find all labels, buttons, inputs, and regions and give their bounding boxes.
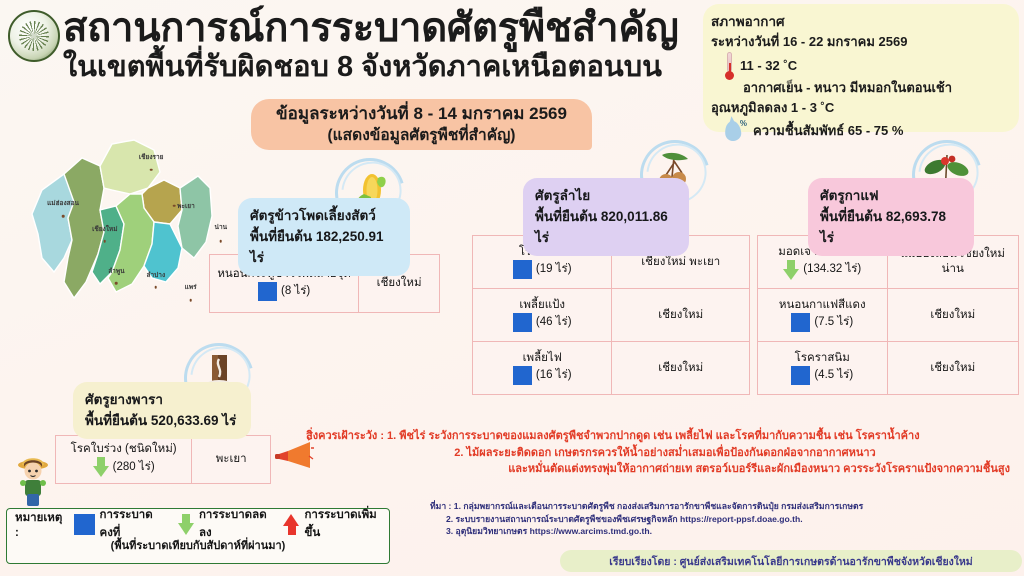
map-dot-mae-hong-son bbox=[62, 215, 65, 218]
pest-amount: (280 ไร่) bbox=[113, 460, 155, 475]
weather-humidity: ความชื้นสัมพัทธ์ 65 - 75 % bbox=[753, 121, 903, 141]
weather-panel: สภาพอากาศ ระหว่างวันที่ 16 - 22 มกราคม 2… bbox=[703, 4, 1019, 132]
page-subtitle: ในเขตพื้นที่รับผิดชอบ 8 จังหวัดภาคเหนือต… bbox=[63, 50, 662, 84]
pest-name: โรคใบร่วง (ชนิดใหม่) bbox=[62, 442, 185, 457]
pest-amount: (4.5 ไร่) bbox=[814, 368, 853, 383]
warning-block: สิ่งควรเฝ้าระวัง : 1. พืชไร่ ระวังการระบ… bbox=[306, 428, 1024, 478]
longan-pest-table: โรคราดำ (19 ไร่) เชียงใหม่ พะเยา เพลี้ยแ… bbox=[472, 235, 750, 395]
pest-meta: (4.5 ไร่) bbox=[764, 366, 881, 385]
map-label-lamphun: ลำพูน bbox=[108, 266, 124, 276]
rubber-province-cell-0: พะเยา bbox=[192, 436, 271, 484]
arrow-up-red-icon bbox=[283, 514, 299, 535]
map-label-chiang-mai: เชียงใหม่ bbox=[92, 224, 117, 234]
pest-meta: (8 ไร่) bbox=[216, 282, 352, 301]
trend-square-icon bbox=[791, 366, 810, 385]
square-blue-icon bbox=[74, 514, 94, 535]
coffee-province-cell-2: เชียงใหม่ bbox=[887, 342, 1018, 395]
weather-title: สภาพอากาศ bbox=[711, 12, 1009, 32]
longan-title: ศัตรูลำไย bbox=[535, 186, 677, 206]
map-label-chiang-rai: เชียงราย bbox=[139, 152, 164, 162]
warning-line-0: สิ่งควรเฝ้าระวัง : 1. พืชไร่ ระวังการระบ… bbox=[306, 428, 1024, 445]
trend-square-icon bbox=[258, 282, 277, 301]
map-dot-nan bbox=[220, 240, 223, 243]
pest-meta: (16 ไร่) bbox=[479, 366, 605, 385]
source-line-2: 3. อุตุนิยมวิทยาเกษตร https://www.arcims… bbox=[430, 525, 1024, 538]
pest-amount: (46 ไร่) bbox=[536, 315, 572, 330]
trend-arrow-down-icon bbox=[783, 260, 799, 280]
map-label-lampang: ลำปาง bbox=[147, 270, 166, 280]
pest-meta: (134.32 ไร่) bbox=[764, 260, 881, 280]
trend-square-icon bbox=[791, 313, 810, 332]
warning-line-1: 2. ไม้ผลระยะติดดอก เกษตรกรควรให้น้ำอย่าง… bbox=[306, 445, 1024, 462]
credit-pill: เรียบเรียงโดย : ศูนย์ส่งเสริมเทคโนโลยีกา… bbox=[560, 550, 1022, 572]
map-label-phayao: พะเยา bbox=[177, 201, 194, 211]
coffee-area: พื้นที่ยืนต้น 82,693.78 ไร่ bbox=[820, 206, 962, 248]
farmer-mascot-icon bbox=[10, 452, 56, 510]
map-dot-chiang-mai bbox=[104, 240, 107, 243]
pest-name: เพลี้ยแป้ง bbox=[479, 298, 605, 313]
coffee-pest-cell-2: โรคราสนิม (4.5 ไร่) bbox=[758, 342, 888, 395]
weather-period: ระหว่างวันที่ 16 - 22 มกราคม 2569 bbox=[711, 32, 1009, 52]
coffee-province-cell-1: เชียงใหม่ bbox=[887, 289, 1018, 342]
table-row: หนอนกาแฟสีแดง (7.5 ไร่) เชียงใหม่ bbox=[758, 289, 1019, 342]
trend-square-icon bbox=[513, 260, 532, 279]
weather-temp-change: อุณหภูมิลดลง 1 - 3 ˚C bbox=[711, 98, 1009, 118]
weather-temp-range: 11 - 32 ˚C bbox=[740, 56, 797, 76]
longan-province-cell-2: เชียงใหม่ bbox=[612, 342, 750, 395]
legend-text-increase: การระบาดเพิ่มขึ้น bbox=[304, 506, 389, 542]
maize-card-bubble: ศัตรูข้าวโพดเลี้ยงสัตว์ พื้นที่ยืนต้น 18… bbox=[238, 198, 410, 276]
legend-item-increase: การระบาดเพิ่มขึ้น bbox=[283, 506, 389, 542]
source-line-0: ที่มา : 1. กลุ่มพยากรณ์และเตือนการระบาดศ… bbox=[430, 500, 1024, 513]
longan-area: พื้นที่ยืนต้น 820,011.86 ไร่ bbox=[535, 206, 677, 248]
longan-province-cell-1: เชียงใหม่ bbox=[612, 289, 750, 342]
pest-meta: (46 ไร่) bbox=[479, 313, 605, 332]
pest-amount: (16 ไร่) bbox=[536, 368, 572, 383]
map-dot-lampang bbox=[155, 286, 158, 289]
pest-meta: (7.5 ไร่) bbox=[764, 313, 881, 332]
rubber-pest-table: โรคใบร่วง (ชนิดใหม่) (280 ไร่) พะเยา bbox=[55, 435, 271, 484]
pest-amount: (8 ไร่) bbox=[281, 284, 310, 299]
maize-title: ศัตรูข้าวโพดเลี้ยงสัตว์ bbox=[250, 206, 398, 226]
source-block: ที่มา : 1. กลุ่มพยากรณ์และเตือนการระบาดศ… bbox=[430, 500, 1024, 538]
source-line-1: 2. ระบบรายงานสถานการณ์ระบาดศัตรูพืชของพื… bbox=[430, 513, 1024, 526]
pest-name: โรคราสนิม bbox=[764, 351, 881, 366]
legend-panel: หมายเหตุ : การระบาดคงที่ การระบาดลดลง กา… bbox=[6, 508, 390, 564]
map-dot-chiang-rai bbox=[150, 169, 153, 172]
longan-pest-cell-1: เพลี้ยแป้ง (46 ไร่) bbox=[473, 289, 612, 342]
garuda-seal-icon bbox=[8, 10, 60, 62]
trend-square-icon bbox=[513, 366, 532, 385]
map-label-mae-hong-son: แม่ฮ่องสอน bbox=[47, 198, 79, 208]
table-row: เพลี้ยแป้ง (46 ไร่) เชียงใหม่ bbox=[473, 289, 750, 342]
trend-arrow-down-icon bbox=[93, 457, 109, 477]
table-row: โรคใบร่วง (ชนิดใหม่) (280 ไร่) พะเยา bbox=[56, 436, 271, 484]
longan-pest-cell-2: เพลี้ยไฟ (16 ไร่) bbox=[473, 342, 612, 395]
pest-meta: (19 ไร่) bbox=[479, 260, 605, 279]
coffee-pest-table: มอดเจาะผลกาแฟ (134.32 ไร่) แม่ฮ่องสอน เช… bbox=[757, 235, 1019, 395]
credit-text: เรียบเรียงโดย : ศูนย์ส่งเสริมเทคโนโลยีกา… bbox=[609, 553, 972, 570]
thermometer-icon bbox=[725, 52, 734, 80]
warning-line-2: และหมั่นตัดแต่งทรงพุ่มให้อากาศถ่ายเท สตร… bbox=[306, 461, 1024, 478]
pest-name: เพลี้ยไฟ bbox=[479, 351, 605, 366]
pest-meta: (280 ไร่) bbox=[62, 457, 185, 477]
map-dot-phayao bbox=[173, 204, 176, 207]
rubber-title: ศัตรูยางพารา bbox=[85, 390, 239, 410]
data-period-line2: (แสดงข้อมูลศัตรูพืชที่สำคัญ) bbox=[259, 125, 584, 146]
infographic-page: สถานการณ์การระบาดศัตรูพืชสำคัญ ในเขตพื้น… bbox=[0, 0, 1024, 576]
pest-name: หนอนกาแฟสีแดง bbox=[764, 298, 881, 313]
coffee-card-bubble: ศัตรูกาแฟ พื้นที่ยืนต้น 82,693.78 ไร่ bbox=[808, 178, 974, 256]
arrow-down-green-icon bbox=[178, 514, 194, 535]
table-row: โรคราสนิม (4.5 ไร่) เชียงใหม่ bbox=[758, 342, 1019, 395]
weather-condition: อากาศเย็น - หนาว มีหมอกในตอนเช้า bbox=[711, 78, 1009, 98]
data-period-banner: ข้อมูลระหว่างวันที่ 8 - 14 มกราคม 2569 (… bbox=[251, 99, 592, 150]
pest-amount: (7.5 ไร่) bbox=[814, 315, 853, 330]
rubber-card-bubble: ศัตรูยางพารา พื้นที่ยืนต้น 520,633.69 ไร… bbox=[73, 382, 251, 439]
rubber-area: พื้นที่ยืนต้น 520,633.69 ไร่ bbox=[85, 410, 239, 431]
page-title: สถานการณ์การระบาดศัตรูพืชสำคัญ bbox=[63, 6, 679, 50]
map-dot-lamphun bbox=[115, 282, 118, 285]
rubber-pest-cell-0: โรคใบร่วง (ชนิดใหม่) (280 ไร่) bbox=[56, 436, 192, 484]
humidity-drop-icon: % bbox=[721, 118, 747, 144]
data-period-line1: ข้อมูลระหว่างวันที่ 8 - 14 มกราคม 2569 bbox=[259, 103, 584, 125]
coffee-title: ศัตรูกาแฟ bbox=[820, 186, 962, 206]
coffee-pest-cell-1: หนอนกาแฟสีแดง (7.5 ไร่) bbox=[758, 289, 888, 342]
map-dot-phrae bbox=[189, 299, 192, 302]
map-label-phrae: แพร่ bbox=[185, 282, 197, 292]
longan-card-bubble: ศัตรูลำไย พื้นที่ยืนต้น 820,011.86 ไร่ bbox=[523, 178, 689, 256]
map-label-nan: น่าน bbox=[215, 222, 228, 232]
trend-square-icon bbox=[513, 313, 532, 332]
maize-area: พื้นที่ยืนต้น 182,250.91 ไร่ bbox=[250, 226, 398, 268]
pest-amount: (19 ไร่) bbox=[536, 262, 572, 277]
legend-label: หมายเหตุ : bbox=[15, 509, 67, 539]
table-row: เพลี้ยไฟ (16 ไร่) เชียงใหม่ bbox=[473, 342, 750, 395]
pest-amount: (134.32 ไร่) bbox=[803, 262, 861, 277]
